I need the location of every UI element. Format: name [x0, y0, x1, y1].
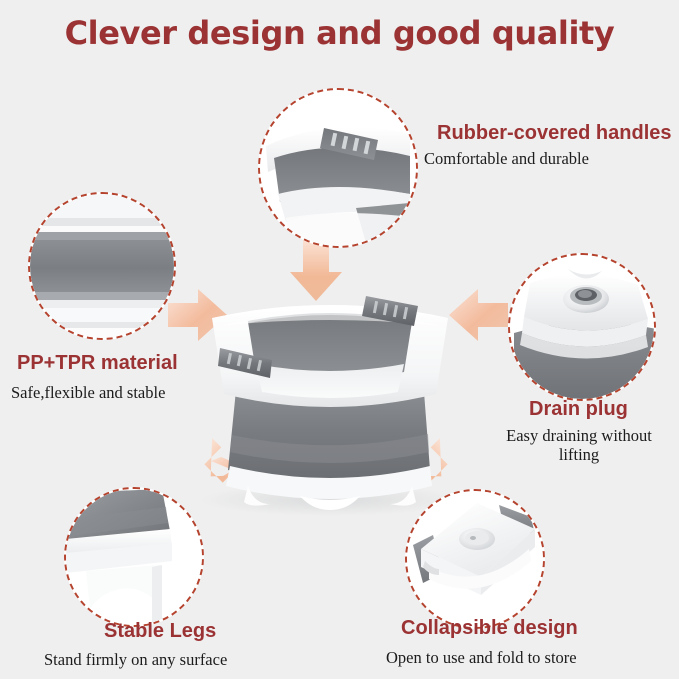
callout-subtitle-stable-legs: Stand firmly on any surface	[44, 650, 227, 669]
infographic-canvas: Clever design and good quality	[0, 0, 679, 679]
callout-heading-pp-tpr-material: PP+TPR material	[17, 352, 178, 375]
detail-circle-collapsible-design	[405, 489, 545, 629]
product-illustration-open-basin	[200, 296, 460, 516]
leg-closeup-illustration	[66, 489, 202, 625]
callout-subtitle-rubber-covered-handles: Comfortable and durable	[424, 149, 589, 168]
callout-heading-stable-legs: Stable Legs	[104, 620, 216, 643]
detail-circle-rubber-covered-handles	[258, 88, 418, 248]
handle-closeup-illustration	[260, 90, 416, 246]
detail-circle-pp-tpr-material	[28, 192, 176, 340]
detail-circle-drain-plug	[508, 253, 656, 401]
arrow-from-handles-icon	[290, 239, 342, 301]
callout-heading-drain-plug: Drain plug	[529, 398, 628, 421]
material-bands-closeup-illustration	[30, 194, 174, 338]
detail-circle-stable-legs	[64, 487, 204, 627]
arrow-from-drain-plug-icon	[449, 289, 508, 341]
callout-subtitle-collapsible-design: Open to use and fold to store	[386, 648, 577, 667]
callout-heading-collapsible-design: Collapsible design	[401, 617, 578, 640]
callout-subtitle-drain-plug: Easy draining without lifting	[489, 426, 669, 465]
callout-heading-rubber-covered-handles: Rubber-covered handles	[437, 122, 672, 145]
callout-subtitle-pp-tpr-material: Safe,flexible and stable	[11, 383, 165, 402]
folded-basin-closeup-illustration	[407, 491, 543, 627]
drain-plug-closeup-illustration	[510, 255, 654, 399]
